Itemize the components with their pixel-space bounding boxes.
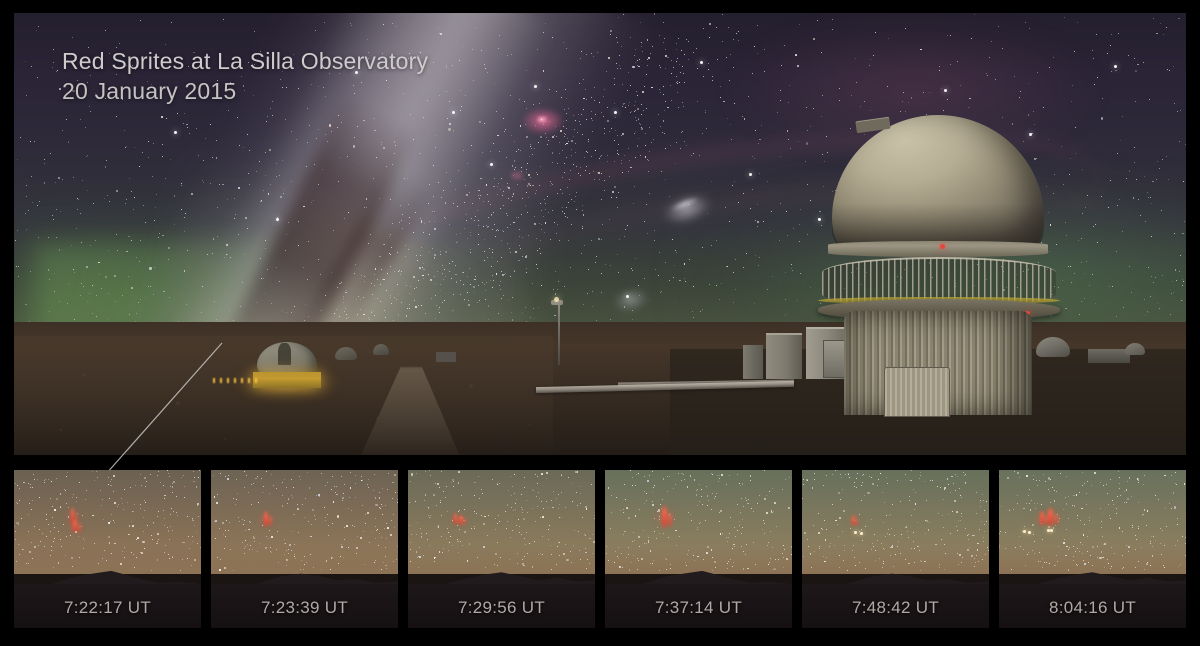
utility-shed-a (766, 333, 802, 379)
dome-lit-base (253, 372, 321, 388)
thumbnail-frame[interactable]: 7:48:42 UT (802, 470, 989, 628)
distant-dome-a (335, 347, 357, 360)
red-sprite (852, 514, 855, 527)
thumbnail-timestamp: 7:22:17 UT (14, 598, 201, 618)
path-lights (213, 378, 259, 383)
light-mast-pole (558, 303, 560, 365)
main-dome-band (828, 241, 1048, 257)
distant-dome-b (373, 344, 389, 355)
red-sprite-tendril (1054, 513, 1058, 527)
dome-slit (278, 343, 291, 365)
emission-nebula-knot (509, 170, 525, 181)
thumbnail-timestamp: 7:37:14 UT (605, 598, 792, 618)
title-block: Red Sprites at La Silla Observatory 20 J… (62, 46, 428, 106)
carina-nebula-core (537, 116, 547, 123)
distant-building-a (436, 352, 456, 362)
red-sprite-tendril (78, 523, 81, 533)
page-title: Red Sprites at La Silla Observatory (62, 46, 428, 76)
danish-telescope-dome (251, 342, 323, 388)
distant-town-light (1050, 529, 1053, 532)
thumbnail-timestamp: 7:29:56 UT (408, 598, 595, 618)
red-sprite (1048, 506, 1053, 528)
red-sprite-tendril (668, 512, 672, 528)
distant-town-light (1023, 530, 1026, 533)
poster-root: Red Sprites at La Silla Observatory 20 J… (0, 0, 1200, 646)
thumbnail-frame[interactable]: 8:04:16 UT (999, 470, 1186, 628)
red-sprite-tendril (269, 515, 272, 526)
thumbnail-frame[interactable]: 7:37:14 UT (605, 470, 792, 628)
main-dome-door (884, 367, 950, 417)
utility-shed-c (743, 345, 763, 379)
dome-warning-light (940, 244, 945, 249)
red-sprite (264, 510, 268, 528)
thumbnail-timestamp: 7:23:39 UT (211, 598, 398, 618)
thumbnail-frame[interactable]: 7:23:39 UT (211, 470, 398, 628)
distant-town-light (1028, 531, 1031, 534)
eso-36m-telescope-dome (816, 115, 1066, 415)
red-sprite-tendril (464, 518, 466, 525)
panorama-image: Red Sprites at La Silla Observatory 20 J… (14, 13, 1186, 455)
distant-town-light (854, 531, 857, 534)
thumbnail-timestamp: 8:04:16 UT (999, 598, 1186, 618)
red-sprite (73, 518, 77, 534)
red-sprite-tendril (856, 518, 858, 526)
thumbnail-frame[interactable]: 7:22:17 UT (14, 470, 201, 628)
thumbnail-timestamp: 7:48:42 UT (802, 598, 989, 618)
distant-town-light (860, 532, 863, 535)
red-sprite (662, 504, 667, 530)
distant-building-right (1088, 349, 1130, 363)
thumbnail-strip: 7:22:17 UT7:23:39 UT7:29:56 UT7:37:14 UT… (14, 470, 1186, 628)
red-sprite (460, 514, 463, 526)
page-subtitle-date: 20 January 2015 (62, 76, 428, 106)
thumbnail-frame[interactable]: 7:29:56 UT (408, 470, 595, 628)
